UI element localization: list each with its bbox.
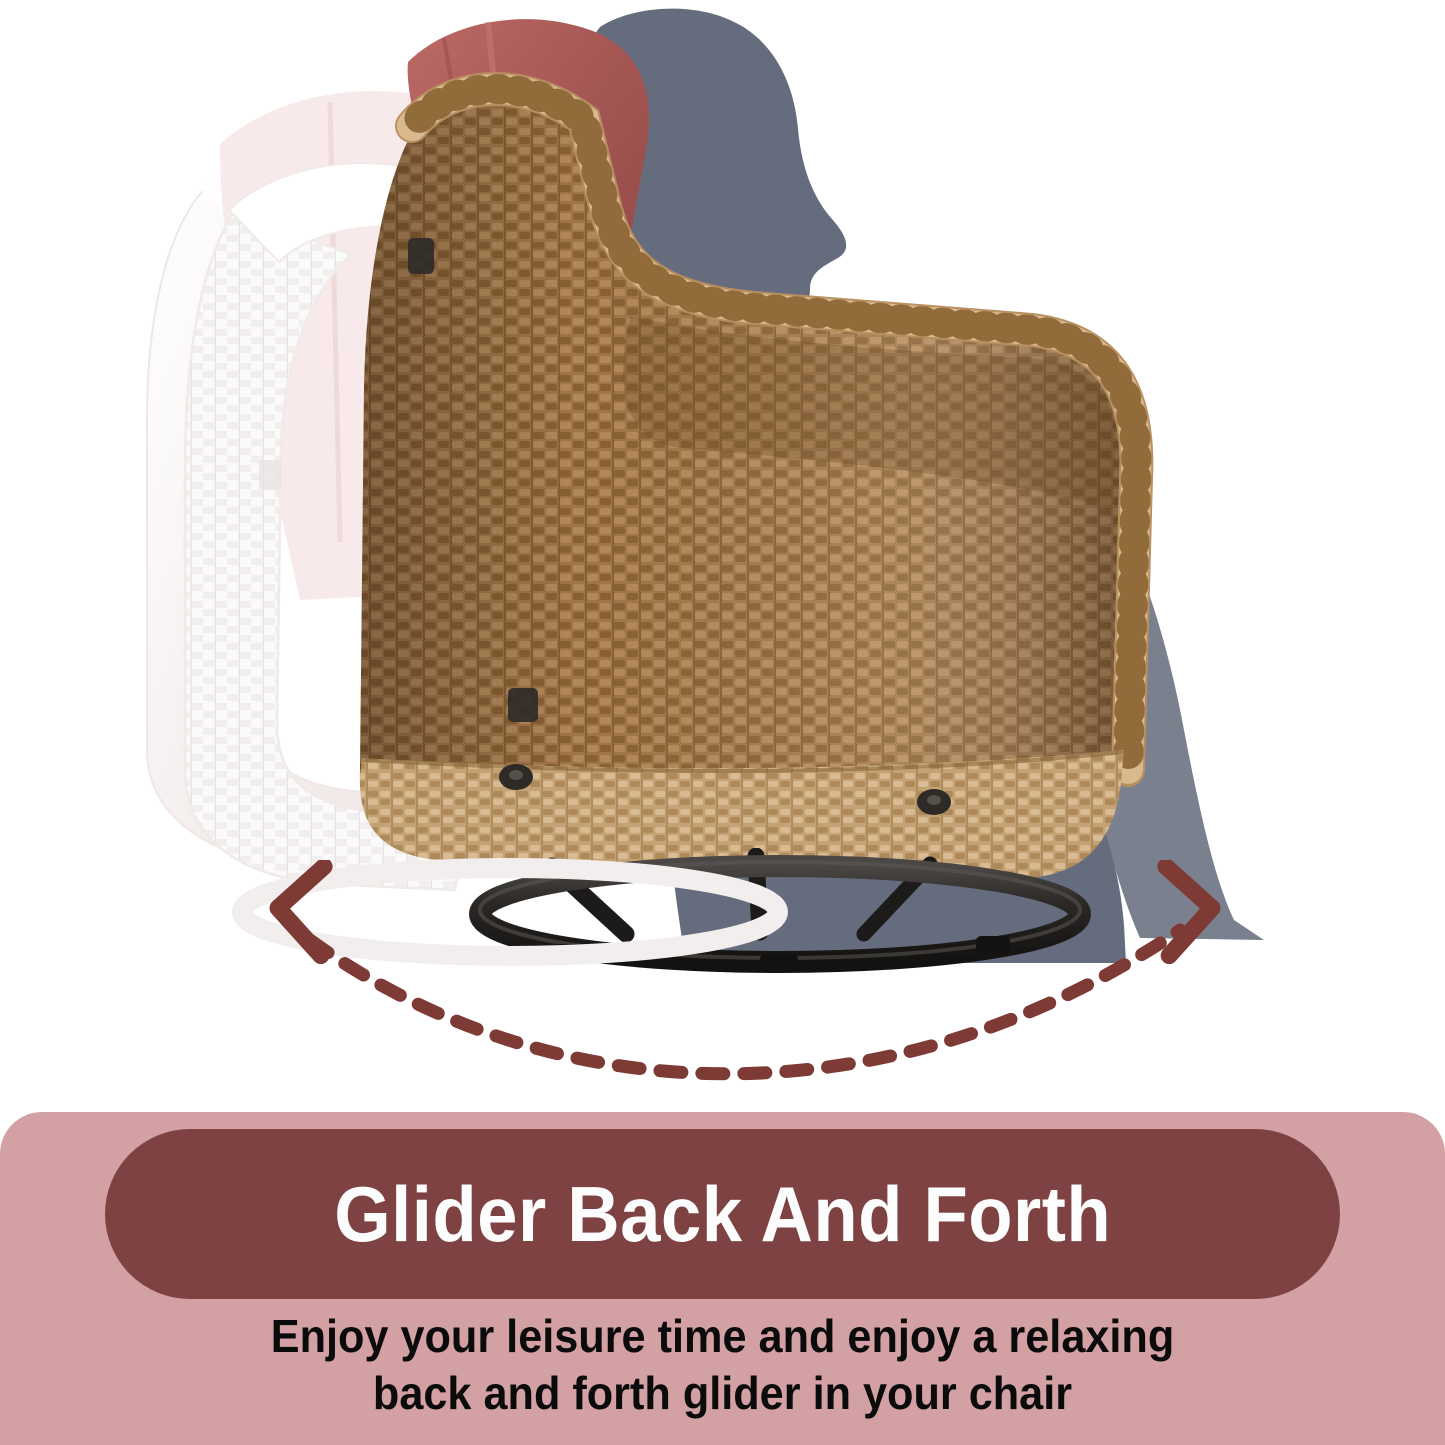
feature-subtitle-line-2: back and forth glider in your chair: [43, 1365, 1401, 1422]
feature-title: Glider Back And Forth: [334, 1175, 1111, 1253]
feature-title-pill: Glider Back And Forth: [105, 1129, 1340, 1299]
chair-body: [330, 70, 1160, 920]
product-feature-image: Glider Back And Forth Enjoy your leisure…: [0, 0, 1445, 1445]
product-photo: [0, 0, 1445, 1120]
feature-banner: Glider Back And Forth Enjoy your leisure…: [0, 1112, 1445, 1445]
glide-motion-arrow: [0, 860, 1445, 1120]
feature-subtitle-line-1: Enjoy your leisure time and enjoy a rela…: [43, 1308, 1401, 1365]
feature-subtitle: Enjoy your leisure time and enjoy a rela…: [43, 1308, 1401, 1422]
